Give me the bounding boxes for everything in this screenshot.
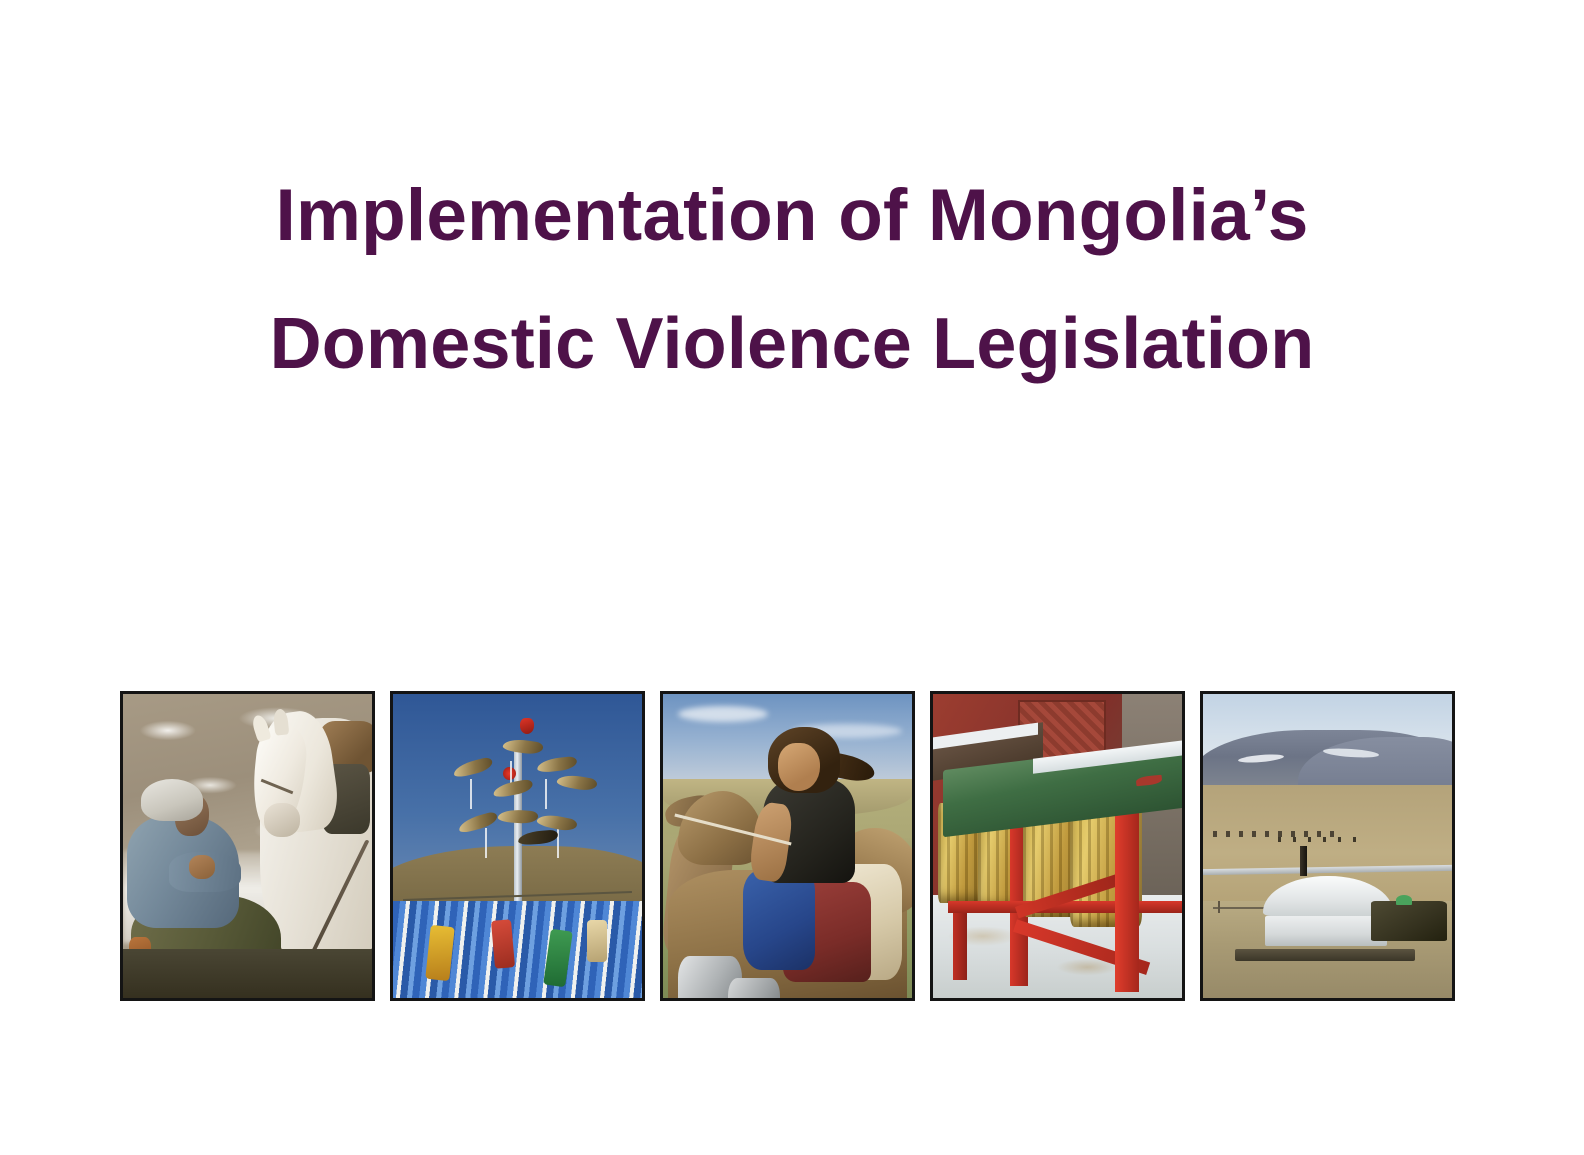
title-line-2: Domestic Violence Legislation [0, 280, 1584, 408]
girl-face [778, 743, 820, 791]
photo-girl-riding-camel [660, 691, 915, 1001]
herder-hat [141, 779, 203, 821]
ger-wall [1265, 916, 1387, 946]
photo-ger-on-the-steppe [1200, 691, 1455, 1001]
photo-5-scene [1203, 694, 1452, 998]
foreground-shadow [123, 949, 372, 998]
parked-truck [1371, 901, 1447, 941]
herder-hand [189, 855, 215, 879]
girl-jeans [743, 870, 815, 970]
ger-platform [1235, 949, 1415, 961]
photo-buddhist-prayer-wheels [930, 691, 1185, 1001]
photo-strip [120, 691, 1466, 1001]
hanging-cord-5 [557, 828, 559, 858]
hanging-cord-3 [545, 779, 547, 809]
green-object [1396, 895, 1412, 905]
photo-ovoo-shrine-prayer-scarves [390, 691, 645, 1001]
milk-can-2 [728, 978, 780, 998]
photo-herder-with-white-horse [120, 691, 375, 1001]
hanging-cord-1 [470, 779, 472, 809]
photo-1-scene [123, 694, 372, 998]
title-line-1: Implementation of Mongolia’s [0, 152, 1584, 280]
hanging-cord-4 [485, 828, 487, 858]
photo-4-scene [933, 694, 1182, 998]
photo-3-scene [663, 694, 912, 998]
horse-muzzle [264, 803, 300, 837]
white-scarf [587, 920, 607, 962]
red-scarf [491, 919, 515, 969]
ger-chimney [1300, 846, 1307, 876]
grazing-livestock-2 [1278, 837, 1363, 842]
fence-post [1218, 901, 1220, 913]
photo-2-scene [393, 694, 642, 998]
page-title: Implementation of Mongolia’s Domestic Vi… [0, 152, 1584, 408]
